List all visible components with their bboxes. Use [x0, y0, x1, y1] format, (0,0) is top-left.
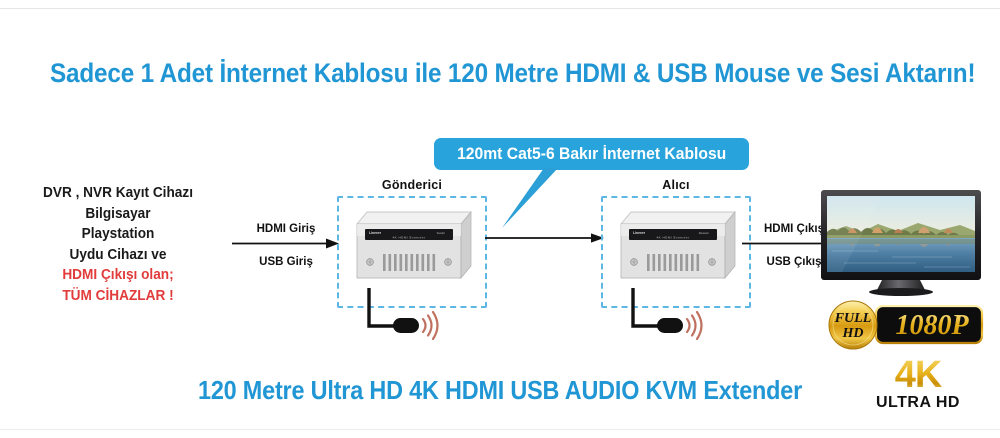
sender-caption: Gönderici — [337, 178, 487, 196]
page-title: Sadece 1 Adet İnternet Kablosu ile 120 M… — [50, 57, 950, 89]
source-device-list: DVR , NVR Kayıt Cihazı Bilgisayar Playst… — [15, 183, 222, 306]
list-item: Bilgisayar — [15, 204, 222, 225]
svg-text:Lineeer: Lineeer — [369, 231, 382, 235]
svg-text:4K HDMI Extender: 4K HDMI Extender — [656, 235, 689, 239]
badge-fullhd-line2: HD — [842, 326, 864, 341]
arrow-right-icon — [232, 237, 340, 250]
television-icon — [820, 189, 982, 301]
svg-text:4K HDMI Extender: 4K HDMI Extender — [392, 235, 425, 239]
input-arrow-top-label: HDMI Giriş — [232, 222, 340, 237]
hdmi-extender-device-icon: Lineeer Receiver 4K HDMI Extender — [617, 210, 739, 288]
list-item: Playstation — [15, 224, 222, 245]
bottom-divider — [0, 429, 1000, 430]
receiver-caption: Alıcı — [601, 178, 751, 196]
svg-text:Lineeer: Lineeer — [633, 231, 646, 235]
input-arrow-bottom-label: USB Giriş — [232, 255, 340, 270]
product-banner: Sadece 1 Adet İnternet Kablosu ile 120 M… — [0, 0, 1000, 438]
cat5-cable-arrow-icon — [485, 232, 605, 244]
badge-resolution-text: 1080P — [895, 310, 969, 341]
usb-wireless-dongle-icon — [363, 288, 449, 344]
input-signal-arrow: HDMI Giriş USB Giriş — [232, 222, 340, 270]
list-item: DVR , NVR Kayıt Cihazı — [15, 183, 222, 204]
cable-callout-bubble: 120mt Cat5-6 Bakır İnternet Kablosu — [434, 138, 749, 170]
receiver-device-group: Alıcı Lineeer Receiver 4K HDMI Extender — [601, 178, 751, 308]
list-item: Uydu Cihazı ve — [15, 245, 222, 266]
callout-tail-icon — [500, 168, 560, 230]
svg-text:Receiver: Receiver — [699, 231, 709, 235]
list-item: HDMI Çıkışı olan; — [15, 265, 222, 286]
badge-fullhd-line1: FULL — [834, 311, 872, 326]
usb-wireless-dongle-icon — [627, 288, 713, 344]
sender-device-group: Gönderici Lineeer Sender 4K HDMI Extende… — [337, 178, 487, 308]
full-hd-1080p-badge: 1080P FULL HD — [820, 300, 986, 350]
product-name-title: 120 Metre Ultra HD 4K HDMI USB AUDIO KVM… — [50, 375, 950, 405]
top-divider — [0, 8, 1000, 9]
svg-text:Sender: Sender — [437, 231, 446, 235]
list-item: TÜM CİHAZLAR ! — [15, 286, 222, 307]
cable-callout-label: 120mt Cat5-6 Bakır İnternet Kablosu — [457, 145, 726, 164]
hdmi-extender-device-icon: Lineeer Sender 4K HDMI Extender — [353, 210, 475, 288]
